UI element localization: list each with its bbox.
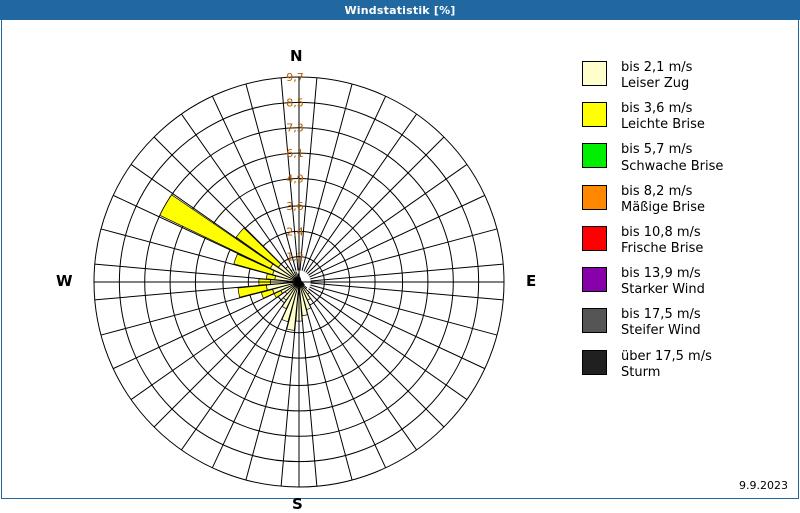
legend-text: bis 10,8 m/sFrische Brise xyxy=(621,225,703,257)
legend-item[interactable]: bis 3,6 m/sLeichte Brise xyxy=(582,101,797,133)
grid-spoke xyxy=(307,290,444,427)
date-stamp: 9.9.2023 xyxy=(739,479,788,492)
legend-item[interactable]: bis 2,1 m/sLeiser Zug xyxy=(582,60,797,92)
legend-item[interactable]: bis 8,2 m/sMäßige Brise xyxy=(582,184,797,216)
radial-tick-label: 8,5 xyxy=(286,96,304,109)
legend-name-label: Leiser Zug xyxy=(621,76,692,92)
radial-tick-label: 7,3 xyxy=(286,122,304,135)
legend-text: über 17,5 m/sSturm xyxy=(621,349,712,381)
grid-spoke xyxy=(304,96,386,271)
legend-text: bis 5,7 m/sSchwache Brise xyxy=(621,142,723,174)
legend-color-swatch xyxy=(582,61,607,86)
grid-spoke xyxy=(154,290,291,427)
window-content: 1,22,43,64,96,17,38,59,7 N S W E bis 2,1… xyxy=(1,20,799,499)
compass-label-west: W xyxy=(56,272,73,290)
grid-spoke xyxy=(300,294,317,487)
legend-text: bis 17,5 m/sSteifer Wind xyxy=(621,307,701,339)
compass-label-south: S xyxy=(292,495,303,513)
legend-name-label: Schwache Brise xyxy=(621,159,723,175)
legend-name-label: Frische Brise xyxy=(621,241,703,257)
windrose-window: Windstatistik [%] 1,22,43,64,96,17,38,59… xyxy=(0,0,800,500)
grid-spoke xyxy=(307,137,444,274)
legend-speed-label: über 17,5 m/s xyxy=(621,349,712,365)
wind-petal xyxy=(160,195,273,268)
legend-color-swatch xyxy=(582,102,607,127)
legend-speed-label: bis 3,6 m/s xyxy=(621,101,705,117)
legend-item[interactable]: bis 5,7 m/sSchwache Brise xyxy=(582,142,797,174)
legend-color-swatch xyxy=(582,143,607,168)
legend-color-swatch xyxy=(582,308,607,333)
legend-name-label: Leichte Brise xyxy=(621,117,705,133)
grid-spoke xyxy=(310,195,485,277)
legend-name-label: Steifer Wind xyxy=(621,323,701,339)
grid-spoke xyxy=(113,287,288,369)
window-title-bar: Windstatistik [%] xyxy=(0,0,800,20)
radial-tick-label: 9,7 xyxy=(286,71,304,84)
windrose-svg: 1,22,43,64,96,17,38,59,7 xyxy=(2,20,562,499)
legend-name-label: Mäßige Brise xyxy=(621,200,705,216)
legend-color-swatch xyxy=(582,185,607,210)
compass-label-east: E xyxy=(526,272,536,290)
legend-name-label: Starker Wind xyxy=(621,282,705,298)
legend-item[interactable]: bis 13,9 m/sStarker Wind xyxy=(582,266,797,298)
legend-item[interactable]: über 17,5 m/sSturm xyxy=(582,349,797,381)
window-title: Windstatistik [%] xyxy=(344,4,455,17)
radial-tick-label: 6,1 xyxy=(286,147,304,160)
grid-spoke xyxy=(113,195,288,277)
legend-speed-label: bis 10,8 m/s xyxy=(621,225,703,241)
compass-label-north: N xyxy=(290,47,303,65)
legend-speed-label: bis 17,5 m/s xyxy=(621,307,701,323)
legend-item[interactable]: bis 17,5 m/sSteifer Wind xyxy=(582,307,797,339)
legend-speed-label: bis 13,9 m/s xyxy=(621,266,705,282)
legend-color-swatch xyxy=(582,350,607,375)
legend-color-swatch xyxy=(582,267,607,292)
legend-text: bis 13,9 m/sStarker Wind xyxy=(621,266,705,298)
grid-spoke xyxy=(311,283,504,300)
radial-tick-label: 3,6 xyxy=(286,200,304,213)
legend-text: bis 8,2 m/sMäßige Brise xyxy=(621,184,705,216)
windrose-chart: 1,22,43,64,96,17,38,59,7 N S W E xyxy=(2,20,562,499)
radial-tick-label: 2,4 xyxy=(286,225,304,238)
grid-spoke xyxy=(304,293,386,468)
legend-color-swatch xyxy=(582,226,607,251)
grid-spoke xyxy=(310,287,485,369)
legend-text: bis 2,1 m/sLeiser Zug xyxy=(621,60,692,92)
legend-name-label: Sturm xyxy=(621,365,712,381)
grid-spoke xyxy=(311,264,504,281)
legend: bis 2,1 m/sLeiser Zugbis 3,6 m/sLeichte … xyxy=(582,60,797,390)
grid-spoke xyxy=(212,293,294,468)
legend-speed-label: bis 2,1 m/s xyxy=(621,60,692,76)
legend-text: bis 3,6 m/sLeichte Brise xyxy=(621,101,705,133)
legend-speed-label: bis 8,2 m/s xyxy=(621,184,705,200)
radial-tick-label: 4,9 xyxy=(286,172,304,185)
radial-tick-label: 1,2 xyxy=(286,251,304,264)
legend-speed-label: bis 5,7 m/s xyxy=(621,142,723,158)
legend-item[interactable]: bis 10,8 m/sFrische Brise xyxy=(582,225,797,257)
